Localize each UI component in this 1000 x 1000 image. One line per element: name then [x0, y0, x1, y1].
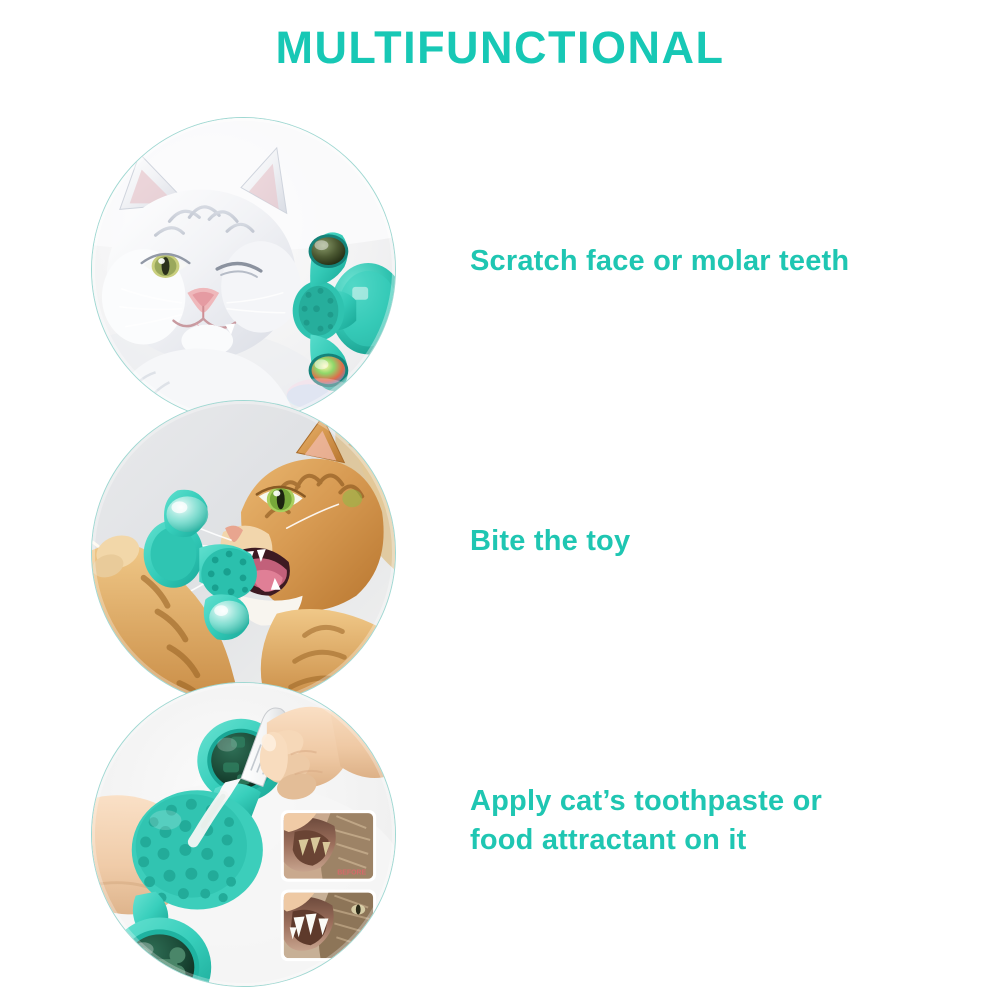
- feature-image-toothpaste: BEFORE: [91, 682, 396, 987]
- page-title: MULTIFUNCTIONAL: [0, 22, 1000, 74]
- caption-line: Bite the toy: [470, 522, 630, 561]
- feature-caption-toothpaste: Apply cat’s toothpaste or food attractan…: [470, 782, 822, 861]
- feature-image-scratch: [91, 117, 396, 422]
- illustration-toothpaste-apply: BEFORE: [92, 683, 395, 986]
- feature-caption-scratch: Scratch face or molar teeth: [470, 242, 849, 281]
- inset-label-after: AFTER: [343, 949, 366, 956]
- caption-line: Apply cat’s toothpaste or: [470, 782, 822, 821]
- infographic-page: MULTIFUNCTIONAL: [0, 0, 1000, 1000]
- illustration-cat-bite: [92, 401, 395, 704]
- feature-image-bite: [91, 400, 396, 705]
- feature-caption-bite: Bite the toy: [470, 522, 630, 561]
- illustration-cat-face-rub: [92, 118, 395, 421]
- caption-line: food attractant on it: [470, 821, 822, 860]
- inset-label-before: BEFORE: [337, 870, 366, 877]
- caption-line: Scratch face or molar teeth: [470, 242, 849, 281]
- inset-before: BEFORE: [281, 810, 376, 882]
